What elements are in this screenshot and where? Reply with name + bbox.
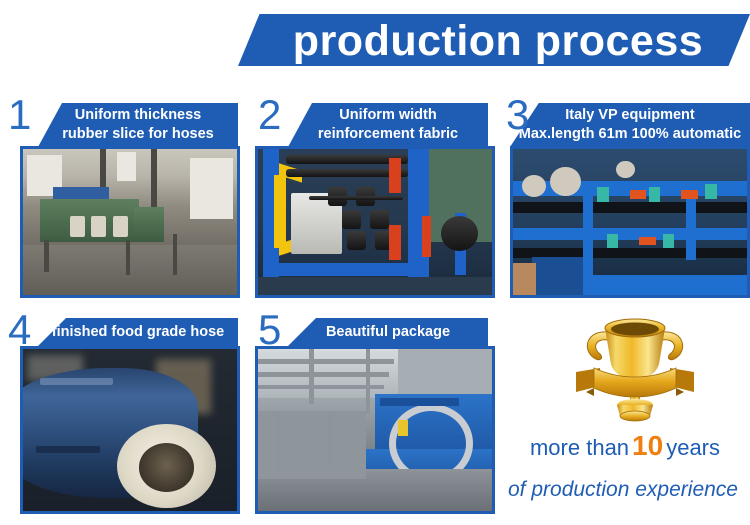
beautiful-package-photo <box>255 346 495 514</box>
card-label-3-line1: Italy VP equipment <box>565 106 694 125</box>
card-label-2: Uniform width reinforcement fabric <box>288 103 488 147</box>
card-label-5-line1: Beautiful package <box>326 323 450 342</box>
fabric-slitting-machine-photo <box>255 146 495 298</box>
promo-suffix: years <box>666 435 720 460</box>
card-label-1: Uniform thickness rubber slice for hoses <box>38 103 238 147</box>
rubber-calendering-line-photo <box>20 146 240 298</box>
card-number-4: 4 <box>8 310 31 350</box>
card-label-1-line1: Uniform thickness <box>75 106 202 125</box>
card-label-5: Beautiful package <box>288 318 488 346</box>
card-label-3-line2: Max.length 61m 100% automatic <box>519 125 741 144</box>
promo-years-number: 10 <box>629 430 666 461</box>
promo-line-1: more than10years <box>500 430 750 462</box>
card-number-3: 3 <box>506 95 529 135</box>
card-number-2: 2 <box>258 95 281 135</box>
italy-vp-equipment-photo <box>510 146 750 298</box>
card-label-4-line1: finished food grade hose <box>52 323 224 342</box>
trophy-icon <box>560 306 710 426</box>
card-label-1-line2: rubber slice for hoses <box>62 125 214 144</box>
card-label-2-line1: Uniform width <box>339 106 436 125</box>
promo-prefix: more than <box>530 435 629 460</box>
food-grade-hose-photo <box>20 346 240 514</box>
card-label-2-line2: reinforcement fabric <box>318 125 458 144</box>
page-title: production process <box>258 10 738 72</box>
card-number-1: 1 <box>8 95 31 135</box>
promo-line-2: of production experience <box>496 478 750 502</box>
card-number-5: 5 <box>258 310 281 350</box>
card-label-3: Italy VP equipment Max.length 61m 100% a… <box>510 103 750 147</box>
card-label-4: finished food grade hose <box>38 318 238 346</box>
